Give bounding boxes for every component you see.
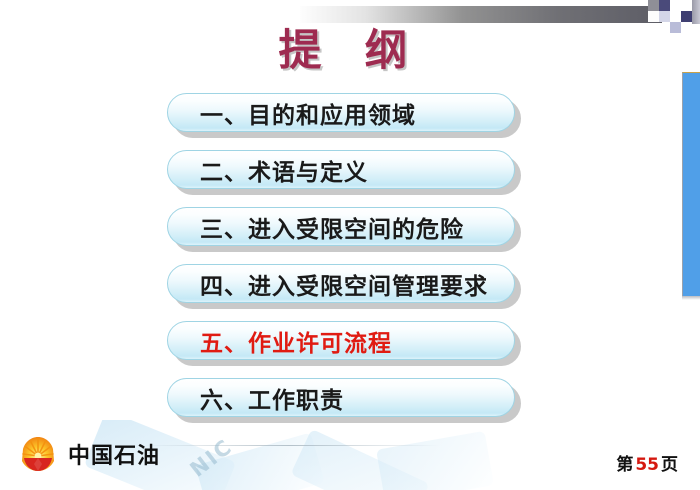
page-number-value: 55 xyxy=(633,455,661,475)
pill-body[interactable]: 二、术语与定义 xyxy=(167,150,515,189)
page-number: 第55页 xyxy=(616,450,678,475)
right-accent-bar-foot xyxy=(682,296,700,300)
watermark-shape xyxy=(376,431,494,490)
outline-item-6[interactable]: 六、工作职责 xyxy=(167,378,527,423)
petrochina-sunburst-icon xyxy=(18,434,58,474)
outline-item-label: 五、作业许可流程 xyxy=(168,324,392,358)
checker-square xyxy=(659,0,670,11)
outline-item-label: 六、工作职责 xyxy=(168,381,344,415)
outline-item-5[interactable]: 五、作业许可流程 xyxy=(167,321,527,366)
brand-logo: 中国石油 xyxy=(18,434,160,474)
page-prefix: 第 xyxy=(616,455,633,475)
brand-name: 中国石油 xyxy=(68,438,160,470)
outline-item-3[interactable]: 三、进入受限空间的危险 xyxy=(167,207,527,252)
outline-item-label: 三、进入受限空间的危险 xyxy=(168,210,464,244)
watermark-shape xyxy=(195,432,325,490)
slide-canvas: 提 纲 一、目的和应用领域 二、术语与定义 三、进入受限空间的危险 四、进入受限… xyxy=(0,0,700,490)
outline-item-4[interactable]: 四、进入受限空间管理要求 xyxy=(167,264,527,309)
outline-item-label: 一、目的和应用领域 xyxy=(168,96,416,130)
outline-item-label: 二、术语与定义 xyxy=(168,153,368,187)
pill-body[interactable]: 五、作业许可流程 xyxy=(167,321,515,360)
pill-body[interactable]: 四、进入受限空间管理要求 xyxy=(167,264,515,303)
pill-body[interactable]: 三、进入受限空间的危险 xyxy=(167,207,515,246)
right-accent-bar xyxy=(682,72,700,296)
pill-body[interactable]: 一、目的和应用领域 xyxy=(167,93,515,132)
watermark-shape xyxy=(291,429,430,490)
page-title: 提 纲 xyxy=(0,16,700,78)
watermark-line xyxy=(140,445,440,446)
page-suffix: 页 xyxy=(661,455,678,475)
outline-item-1[interactable]: 一、目的和应用领域 xyxy=(167,93,527,138)
outline-list: 一、目的和应用领域 二、术语与定义 三、进入受限空间的危险 四、进入受限空间管理… xyxy=(167,93,527,435)
watermark-text: NIC xyxy=(186,434,238,482)
pill-body[interactable]: 六、工作职责 xyxy=(167,378,515,417)
outline-item-2[interactable]: 二、术语与定义 xyxy=(167,150,527,195)
checker-square xyxy=(648,0,659,11)
outline-item-label: 四、进入受限空间管理要求 xyxy=(168,267,488,301)
